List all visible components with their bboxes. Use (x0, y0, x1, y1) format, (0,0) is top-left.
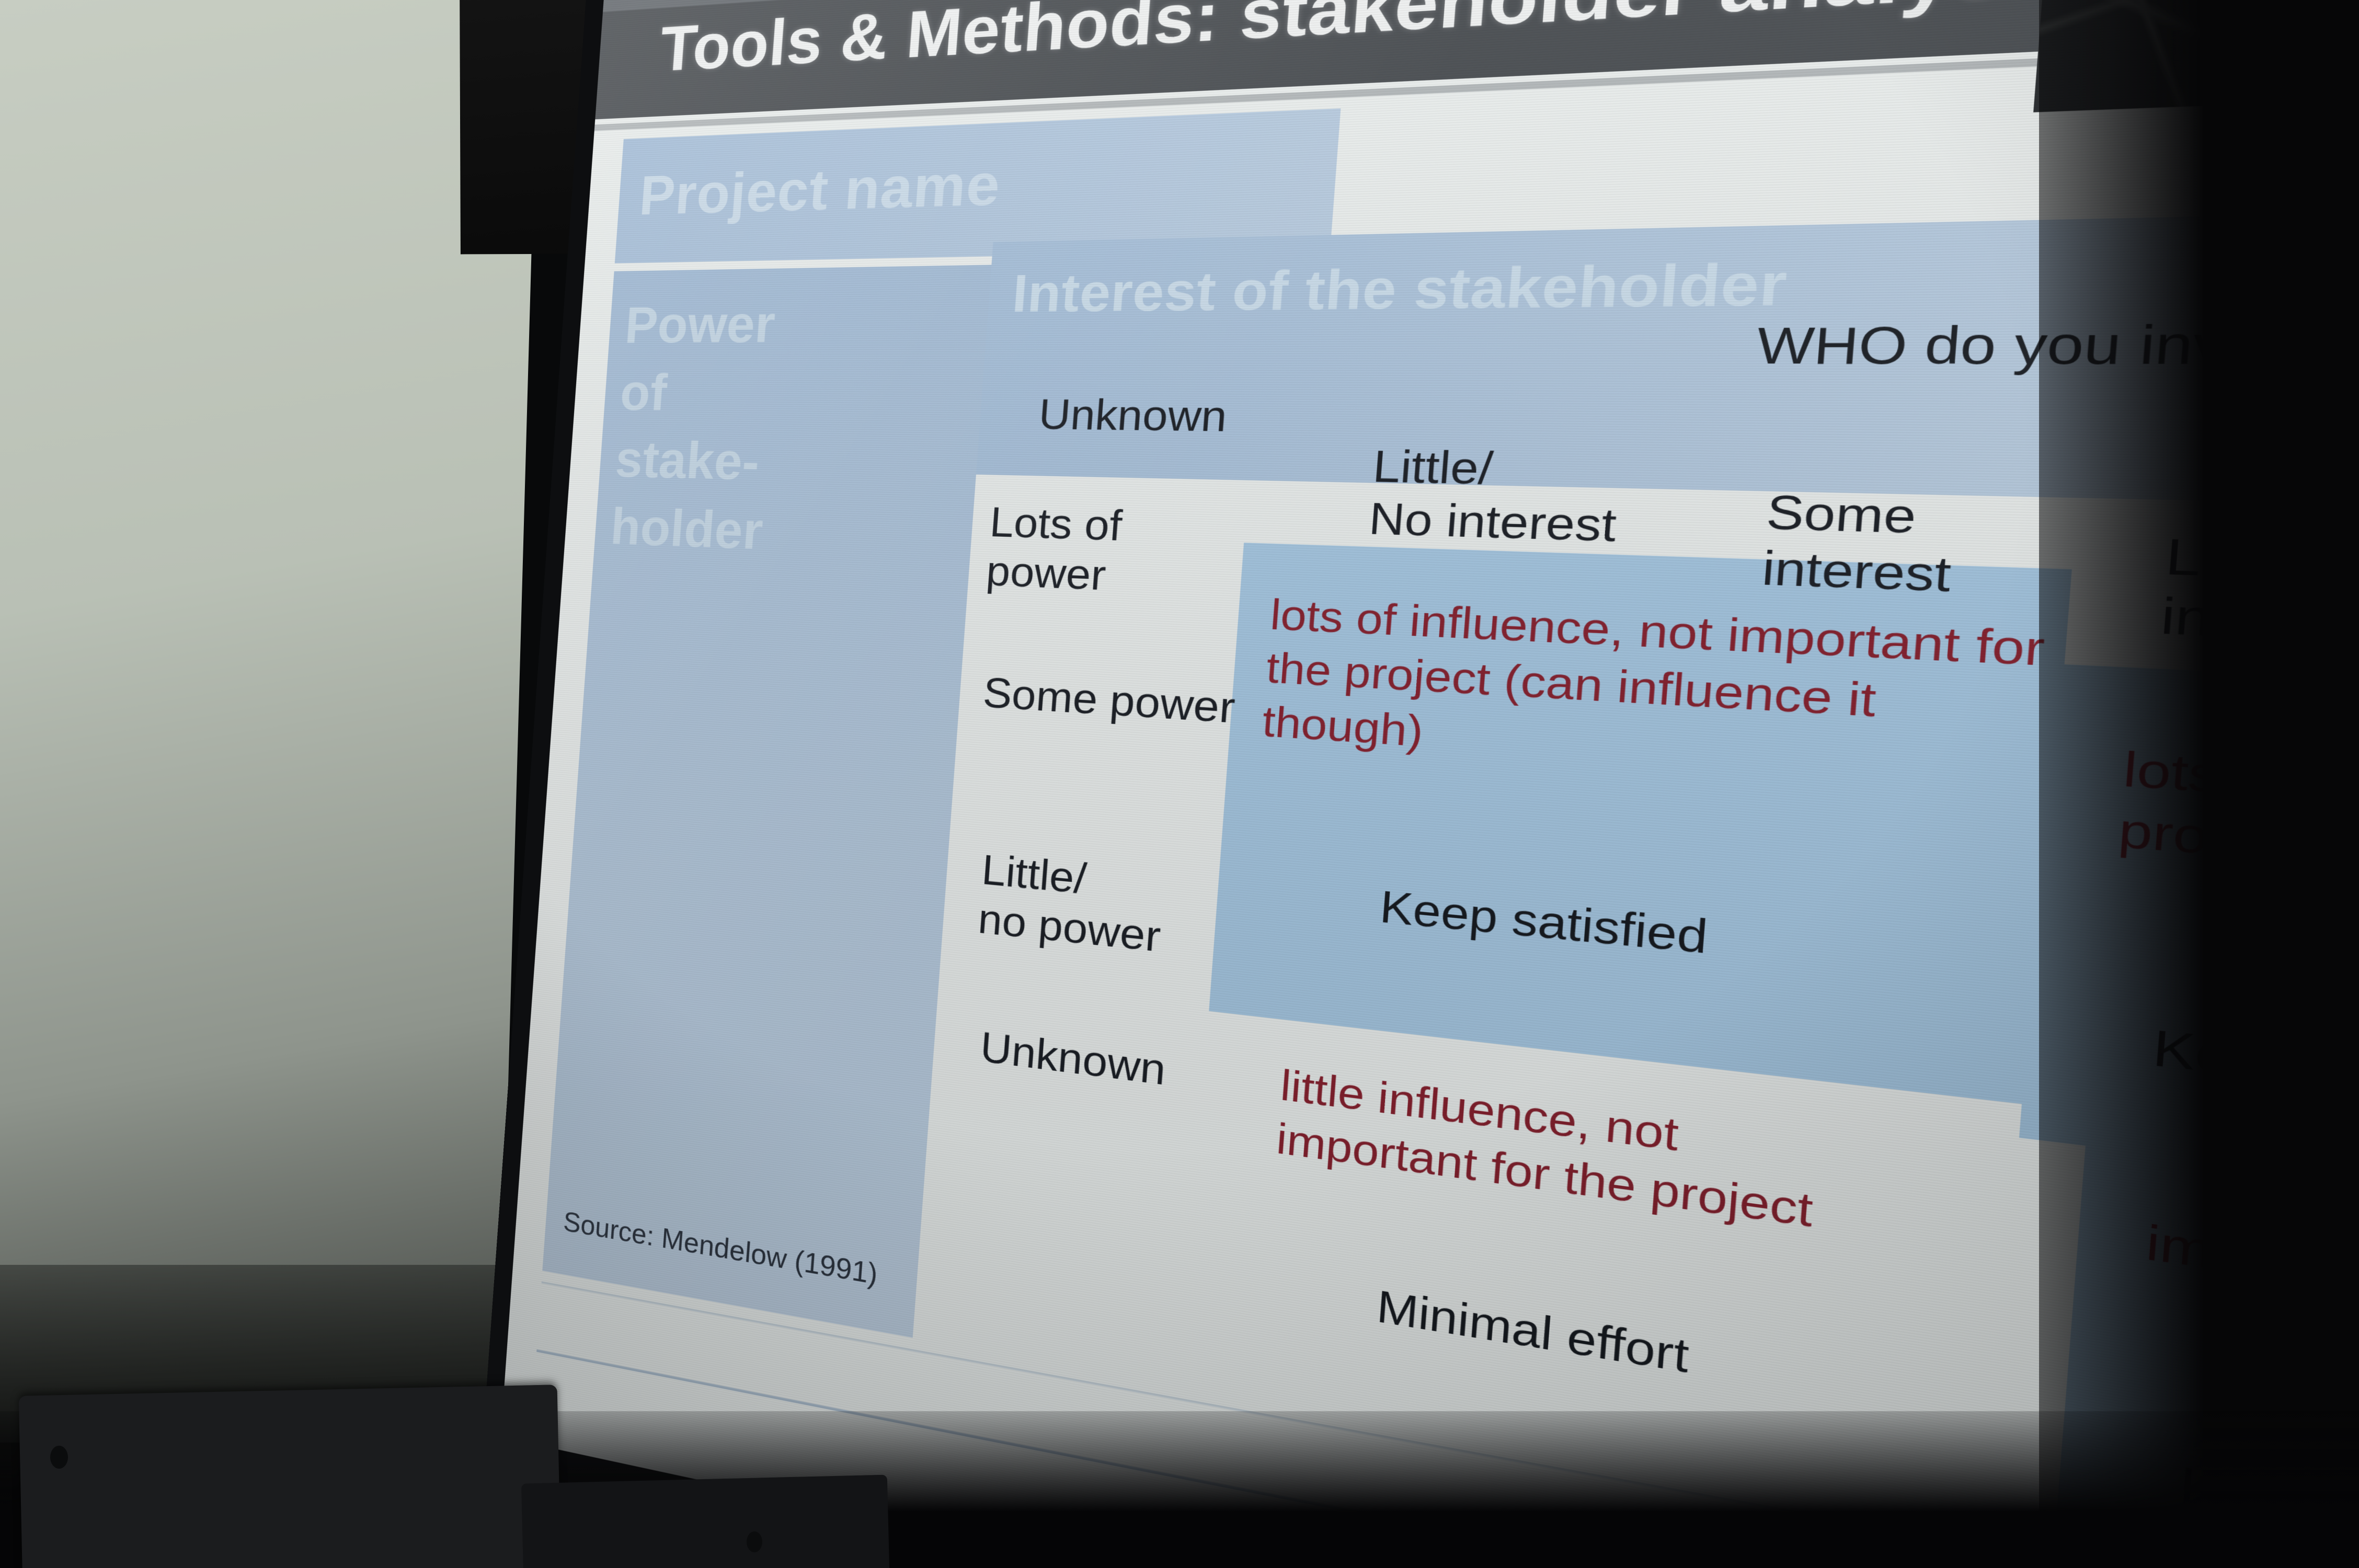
laptop-hinge-dot (50, 1446, 68, 1469)
power-label-line-4: holder (609, 493, 945, 573)
column-header-no-interest-line2: No interest (1367, 492, 1618, 552)
quadrant-bottom-left-description: little influence, not important for the … (1275, 1059, 1914, 1254)
column-header-some-interest: Some interest (1760, 485, 1958, 603)
power-label-line-1: Power (623, 288, 961, 360)
row-header-lots-of-power-line2: power (984, 546, 1120, 601)
row-header-no-power: Little/ no power (977, 845, 1166, 962)
power-label-line-3: stake- (613, 426, 951, 502)
row-header-unknown-power-label: Unknown (979, 1022, 1167, 1095)
quadrant-bottom-left-strategy: Minimal effort (1375, 1280, 1691, 1383)
column-header-no-interest-line1: Little/ (1371, 441, 1623, 499)
project-name-placeholder[interactable]: Project name (637, 151, 1003, 228)
row-header-unknown-power: Unknown (979, 1022, 1167, 1095)
column-header-no-interest: Little/ No interest (1367, 441, 1622, 552)
power-axis-label: Power of stake- holder (609, 288, 961, 574)
room-wall (0, 0, 539, 1443)
row-header-some-power-label: Some power (981, 668, 1237, 733)
row-header-some-power: Some power (981, 668, 1237, 733)
row-header-lots-of-power: Lots of power (984, 498, 1124, 601)
interest-axis-label: Interest of the stakeholder (1011, 251, 1790, 325)
foreground-laptop-silhouette (19, 1385, 562, 1568)
right-dark-area (2039, 0, 2359, 1568)
laptop-hinge-dot-secondary (747, 1531, 762, 1552)
column-header-some-interest-line1: Some (1765, 485, 1957, 546)
column-header-some-interest-line2: interest (1760, 540, 1953, 603)
power-label-line-2: of (618, 359, 956, 431)
column-header-unknown-label: Unknown (1037, 390, 1229, 442)
row-header-lots-of-power-line1: Lots of (988, 498, 1124, 551)
foreground-laptop-secondary (521, 1474, 890, 1568)
column-header-unknown: Unknown (1037, 390, 1229, 442)
photo-of-projected-slide: Tools & Methods: stakeholder analysis Pr… (0, 0, 2359, 1568)
